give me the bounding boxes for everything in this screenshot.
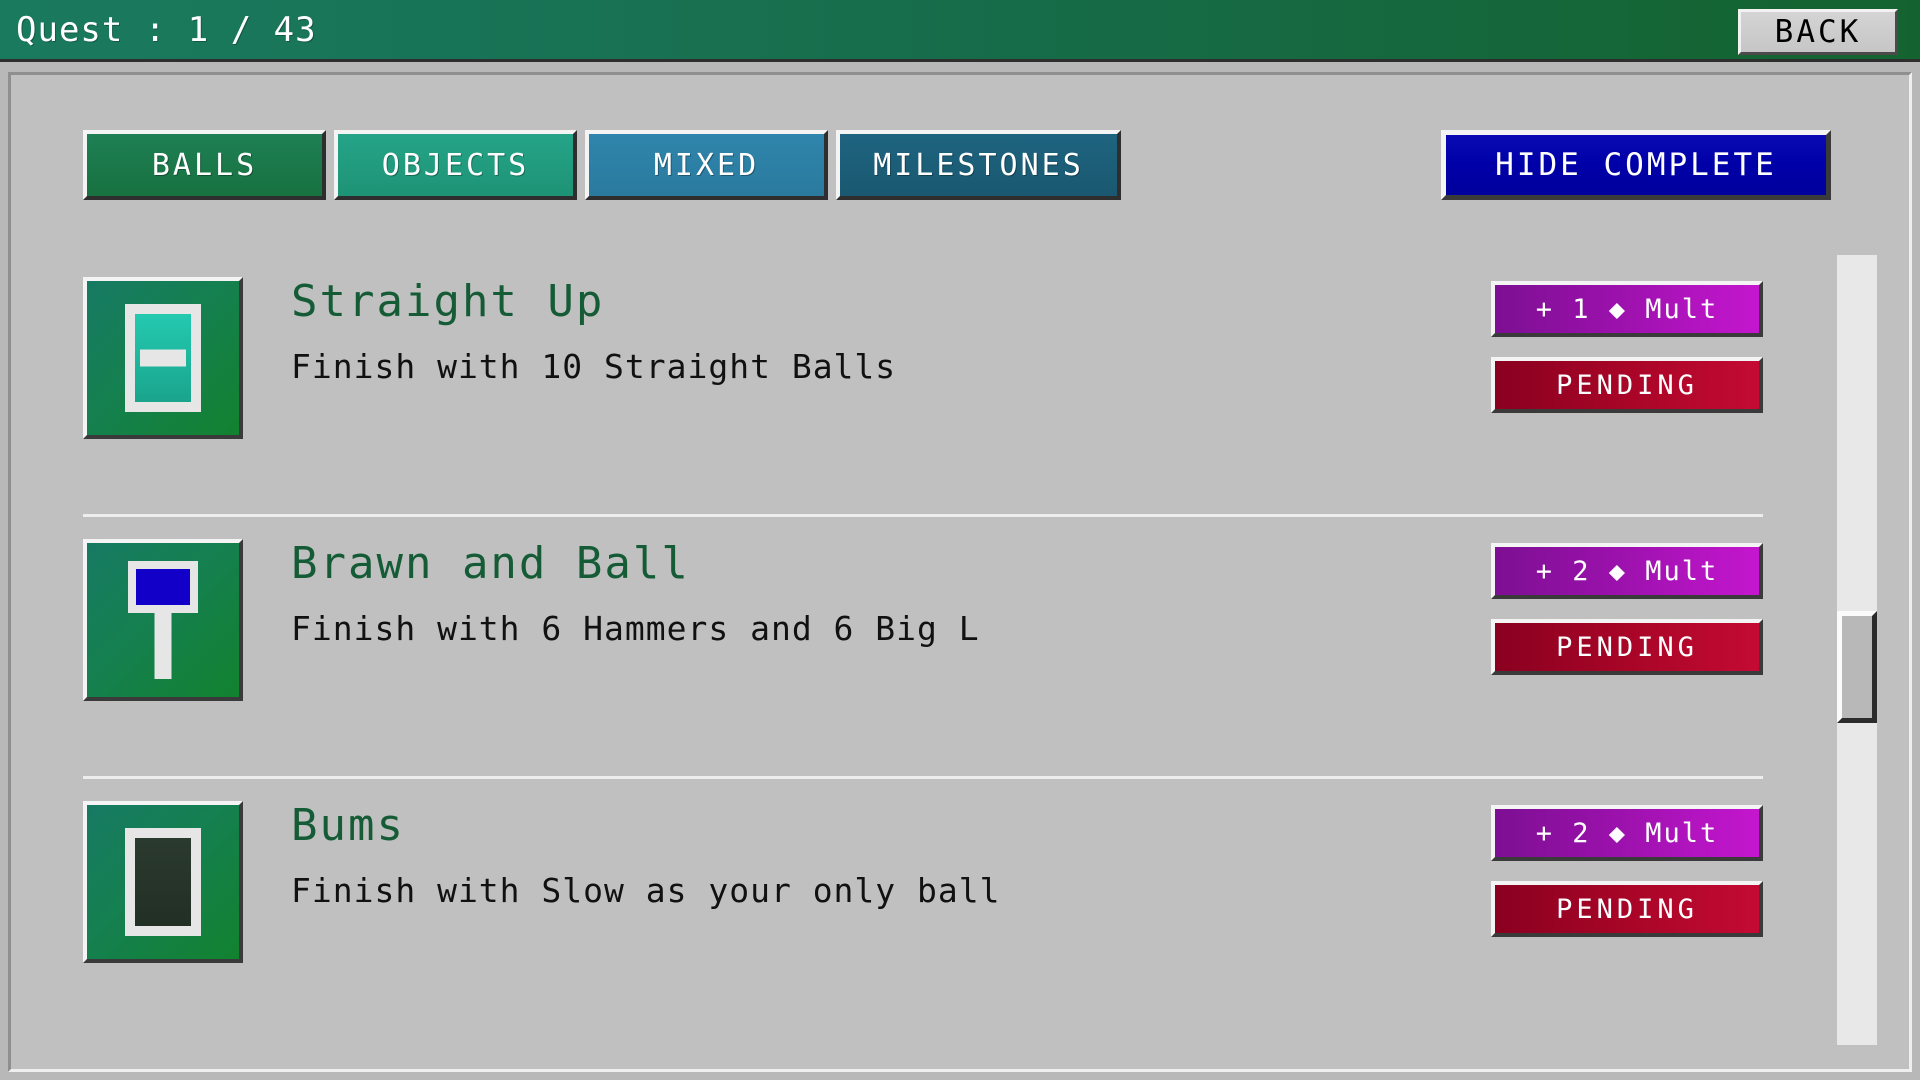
tab-mixed[interactable]: MIXED xyxy=(585,130,828,200)
reward-badge[interactable]: + 2 ◆ Mult xyxy=(1491,805,1763,861)
category-tab-row: BALLS OBJECTS MIXED MILESTONES xyxy=(83,130,1121,200)
quest-badge-group: + 2 ◆ Mult PENDING xyxy=(1491,801,1763,937)
quest-description: Finish with Slow as your only ball xyxy=(291,871,1491,910)
main-panel: BALLS OBJECTS MIXED MILESTONES HIDE COMP… xyxy=(8,72,1912,1072)
scrollbar-thumb[interactable] xyxy=(1837,611,1877,723)
quest-description: Finish with 6 Hammers and 6 Big L xyxy=(291,609,1491,648)
quest-row[interactable]: Brawn and Ball Finish with 6 Hammers and… xyxy=(83,517,1763,779)
quest-title: Straight Up xyxy=(291,279,1491,325)
quest-list: Straight Up Finish with 10 Straight Ball… xyxy=(83,255,1763,1041)
reward-badge[interactable]: + 2 ◆ Mult xyxy=(1491,543,1763,599)
quest-title: Bums xyxy=(291,803,1491,849)
dark-ball-icon xyxy=(125,828,201,936)
quest-icon-tile[interactable] xyxy=(83,539,243,701)
status-badge[interactable]: PENDING xyxy=(1491,357,1763,413)
tab-objects[interactable]: OBJECTS xyxy=(334,130,577,200)
quest-text-block: Bums Finish with Slow as your only ball xyxy=(243,801,1491,910)
quest-text-block: Straight Up Finish with 10 Straight Ball… xyxy=(243,277,1491,386)
tab-balls[interactable]: BALLS xyxy=(83,130,326,200)
header-bar: Quest : 1 / 43 BACK xyxy=(0,0,1920,62)
quest-badge-group: + 1 ◆ Mult PENDING xyxy=(1491,277,1763,413)
quest-description: Finish with 10 Straight Balls xyxy=(291,347,1491,386)
hide-complete-button[interactable]: HIDE COMPLETE xyxy=(1441,130,1831,200)
quest-icon-tile[interactable] xyxy=(83,801,243,963)
quest-text-block: Brawn and Ball Finish with 6 Hammers and… xyxy=(243,539,1491,648)
quest-row[interactable]: Bums Finish with Slow as your only ball … xyxy=(83,779,1763,1041)
quest-counter-title: Quest : 1 / 43 xyxy=(16,10,317,50)
hammer-handle-icon xyxy=(155,611,172,679)
back-button[interactable]: BACK xyxy=(1738,9,1898,55)
hammer-icon xyxy=(121,561,205,679)
hammer-head-icon xyxy=(128,561,198,613)
straight-ball-icon xyxy=(125,304,201,412)
status-badge[interactable]: PENDING xyxy=(1491,881,1763,937)
quest-title: Brawn and Ball xyxy=(291,541,1491,587)
quest-row[interactable]: Straight Up Finish with 10 Straight Ball… xyxy=(83,255,1763,517)
quest-badge-group: + 2 ◆ Mult PENDING xyxy=(1491,539,1763,675)
tab-milestones[interactable]: MILESTONES xyxy=(836,130,1121,200)
status-badge[interactable]: PENDING xyxy=(1491,619,1763,675)
quest-list-scrollbar[interactable] xyxy=(1837,255,1877,1045)
quest-icon-tile[interactable] xyxy=(83,277,243,439)
reward-badge[interactable]: + 1 ◆ Mult xyxy=(1491,281,1763,337)
